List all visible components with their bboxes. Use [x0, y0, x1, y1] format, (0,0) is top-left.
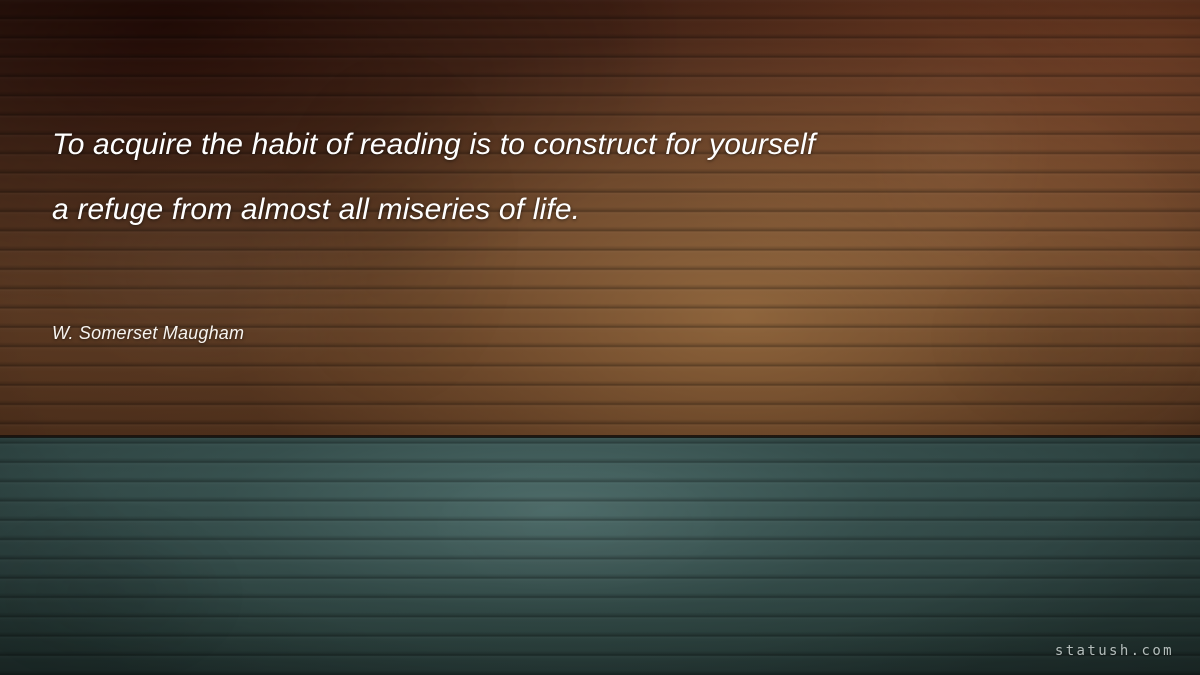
card-content: To acquire the habit of reading is to co… — [0, 0, 1200, 675]
quote-author: W. Somerset Maugham — [52, 320, 244, 346]
quote-text: To acquire the habit of reading is to co… — [52, 112, 1112, 242]
quote-line-1: To acquire the habit of reading is to co… — [52, 112, 1112, 177]
quote-card: To acquire the habit of reading is to co… — [0, 0, 1200, 675]
quote-line-2: a refuge from almost all miseries of lif… — [52, 177, 1112, 242]
site-watermark: statush.com — [1055, 643, 1174, 659]
